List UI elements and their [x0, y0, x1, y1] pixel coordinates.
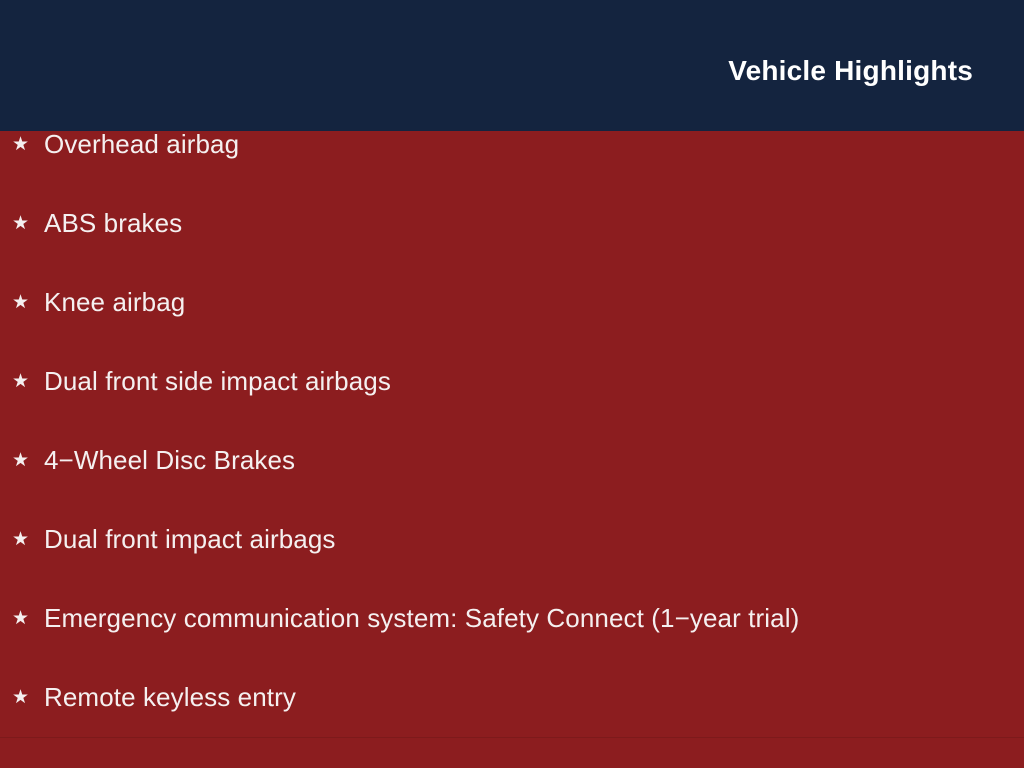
list-item: ★ Overhead airbag: [0, 131, 1024, 210]
list-item-label: Remote keyless entry: [44, 684, 296, 710]
list-item-label: Overhead airbag: [44, 131, 239, 157]
list-item: ★ ABS brakes: [0, 210, 1024, 289]
star-bullet-icon: ★: [12, 609, 44, 628]
list-item-label: Dual front impact airbags: [44, 526, 336, 552]
slide-header-band: Vehicle Highlights: [0, 0, 1024, 131]
list-item: ★ Dual front side impact airbags: [0, 368, 1024, 447]
vehicle-highlights-slide: Vehicle Highlights ★ Overhead airbag ★ A…: [0, 0, 1024, 768]
star-bullet-icon: ★: [12, 688, 44, 707]
star-bullet-icon: ★: [12, 293, 44, 312]
list-item: ★ Dual front impact airbags: [0, 526, 1024, 605]
list-item: ★ Knee airbag: [0, 289, 1024, 368]
slide-body: ★ Overhead airbag ★ ABS brakes ★ Knee ai…: [0, 131, 1024, 768]
star-bullet-icon: ★: [12, 530, 44, 549]
list-item-label: Emergency communication system: Safety C…: [44, 605, 799, 631]
list-item-label: Knee airbag: [44, 289, 185, 315]
list-item-label: Dual front side impact airbags: [44, 368, 391, 394]
list-item-label: ABS brakes: [44, 210, 182, 236]
list-item: ★ 4−Wheel Disc Brakes: [0, 447, 1024, 526]
list-item-label: 4−Wheel Disc Brakes: [44, 447, 295, 473]
list-item: ★ Emergency communication system: Safety…: [0, 605, 1024, 684]
star-bullet-icon: ★: [12, 135, 44, 154]
star-bullet-icon: ★: [12, 372, 44, 391]
list-item: ★ Remote keyless entry: [0, 684, 1024, 763]
page-title: Vehicle Highlights: [728, 57, 973, 85]
star-bullet-icon: ★: [12, 214, 44, 233]
star-bullet-icon: ★: [12, 451, 44, 470]
vehicle-highlights-list: ★ Overhead airbag ★ ABS brakes ★ Knee ai…: [0, 131, 1024, 763]
